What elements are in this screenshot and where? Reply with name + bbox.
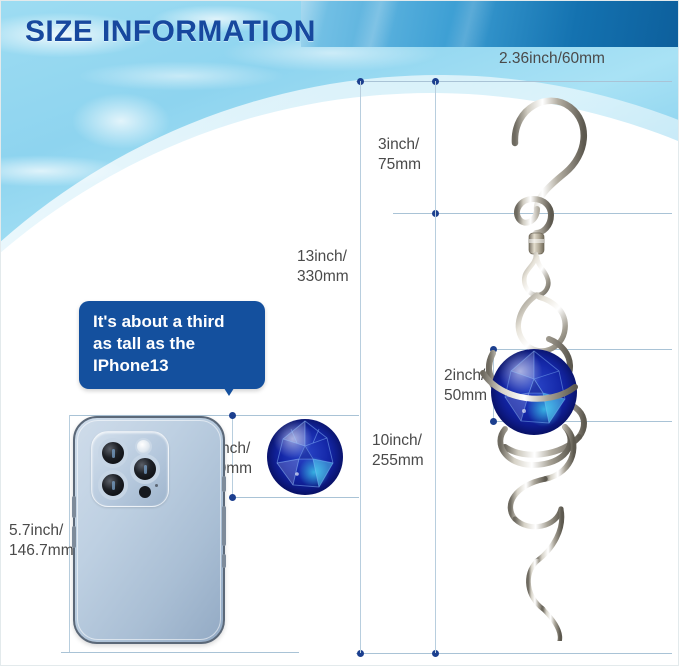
callout-bubble-tail [215,374,243,396]
phone-camera-lens-wide [98,438,128,468]
dim-label-phone-height: 5.7inch/ 146.7mm [9,521,74,561]
dim-label-width-top: 2.36inch/60mm [499,49,605,69]
phone-camera-microphone [155,484,158,487]
phone-camera-lens-telephoto [130,454,160,484]
dim-dot-loose-ball-top [229,412,236,419]
iphone-13-pro-illustration [73,416,225,644]
dim-vline-total-height [360,81,361,653]
dim-label-total-height: 13inch/ 330mm [297,247,349,287]
phone-sim-tray [222,554,226,568]
dim-line-phone-bottom [61,652,299,653]
phone-mute-switch [222,476,226,492]
dim-line-bottom [356,653,672,654]
phone-camera-lidar [139,486,151,498]
phone-volume-down-button [72,526,76,548]
dim-line-loose-ball-top [229,415,359,416]
loose-crystal-ball [267,419,343,495]
page-title: SIZE INFORMATION [25,15,316,49]
dim-label-hook-section: 3inch/ 75mm [378,135,421,175]
callout-text: It's about a third as tall as the IPhone… [93,311,253,377]
phone-power-button [222,506,226,546]
hanger-crystal-ball [491,349,577,435]
phone-volume-up-button [72,496,76,518]
size-information-infographic: SIZE INFORMATION 2.36inch/60mm 3inch/ 75… [0,0,679,666]
dim-label-spiral-section: 10inch/ 255mm [372,431,424,471]
spiral-crystal-hanger [453,81,643,641]
phone-camera-module [91,431,169,507]
dim-dot-loose-ball-bottom [229,494,236,501]
header-dark-gradient-band [301,1,679,47]
phone-camera-flash [135,438,152,455]
dim-line-loose-ball-bottom [229,497,359,498]
phone-camera-lens-ultrawide [98,470,128,500]
dim-vline-sections [435,81,436,653]
